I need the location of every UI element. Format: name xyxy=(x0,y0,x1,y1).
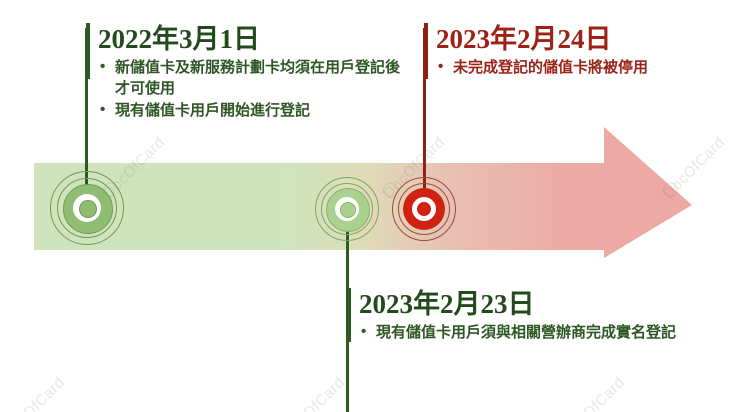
watermark: DocOfCard xyxy=(280,374,348,412)
bullet-item: 現有儲值卡用戶開始進行登記 xyxy=(98,100,406,121)
block-accent-bar-3 xyxy=(424,23,428,79)
timeline-infographic: 2022年3月1日 新儲值卡及新服務計劃卡均須在用戶登記後才可使用 現有儲值卡用… xyxy=(0,0,752,412)
watermark-text: DocOfCard xyxy=(560,374,628,412)
bullet-item: 新儲值卡及新服務計劃卡均須在用戶登記後才可使用 xyxy=(98,57,406,99)
block-accent-bar-2 xyxy=(347,288,351,342)
watermark-text: DocOfCard xyxy=(0,374,68,412)
block-accent-bar-1 xyxy=(86,23,90,79)
bullet-item: 未完成登記的儲值卡將被停用 xyxy=(436,57,648,78)
watermark-text: DocOfCard xyxy=(280,374,348,412)
milestone-bullets-3: 未完成登記的儲值卡將被停用 xyxy=(436,57,648,78)
watermark: DocOfCard xyxy=(560,374,628,412)
marker-core-1 xyxy=(79,200,97,218)
milestone-marker-1 xyxy=(50,171,124,245)
milestone-bullets-1: 新儲值卡及新服務計劃卡均須在用戶登記後才可使用 現有儲值卡用戶開始進行登記 xyxy=(98,57,406,121)
marker-core-2 xyxy=(340,202,356,218)
milestone-date-1: 2022年3月1日 xyxy=(98,23,406,55)
milestone-date-3: 2023年2月24日 xyxy=(436,23,648,55)
milestone-date-2: 2023年2月23日 xyxy=(359,288,676,320)
milestone-marker-2 xyxy=(315,177,379,241)
milestone-bullets-2: 現有儲值卡用戶須與相關營辦商完成實名登記 xyxy=(359,322,676,343)
bullet-item: 現有儲值卡用戶須與相關營辦商完成實名登記 xyxy=(359,322,676,343)
watermark: DocOfCard xyxy=(0,374,68,412)
marker-core-3 xyxy=(417,202,431,216)
milestone-marker-3 xyxy=(392,177,456,241)
